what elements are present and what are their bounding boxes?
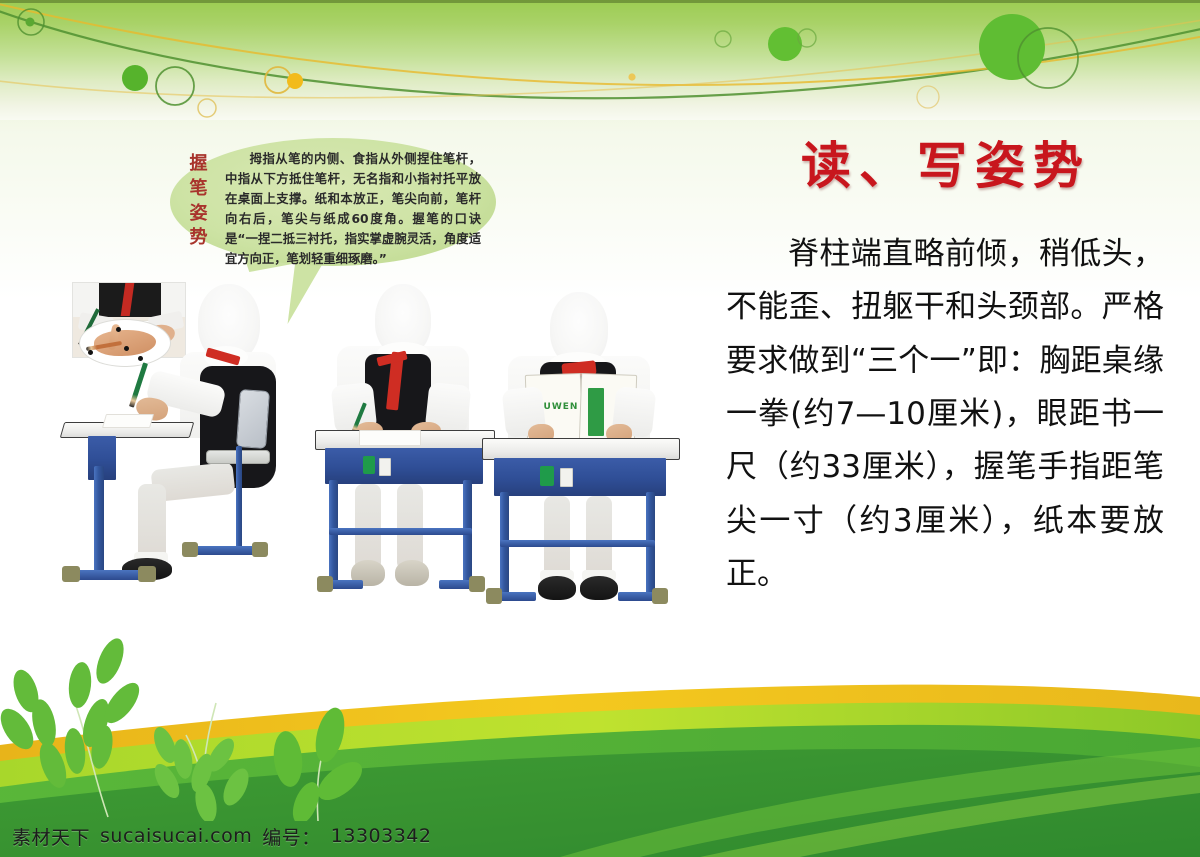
student1-chair-back (236, 389, 270, 449)
solid-circle-2 (122, 65, 148, 91)
leaf-cluster-mid (150, 724, 254, 821)
leaf-19 (311, 705, 350, 766)
main-paragraph: 脊柱端直略前倾，稍低头，不能歪、扭躯干和头颈部。严格要求做到“三个一”即：胸距桌… (700, 228, 1170, 601)
leaf-18 (271, 730, 305, 789)
student3-desk-white-tag (560, 468, 573, 487)
student1-chair-foot-r (252, 542, 268, 557)
student2-desk-body (325, 448, 483, 484)
watermark-id-value: 13303342 (331, 825, 432, 847)
watermark-site-url: sucaisucai.com (100, 825, 252, 847)
watermark-site-cn: 素材天下 (12, 823, 90, 850)
student2-leg-left (355, 484, 381, 570)
student3-desk-top (482, 438, 680, 460)
student3-desk-foot-r (652, 588, 668, 604)
student1-shin (138, 484, 166, 562)
callout-text: 拇指从笔的内侧、食指从外侧捏住笔杆，中指从下方抵住笔杆，无名指和小指衬托平放在桌… (225, 150, 481, 269)
student3-shoe-right (580, 576, 618, 600)
text-column: 读、写姿势 脊柱端直略前倾，稍低头，不能歪、扭躯干和头颈部。严格要求做到“三个一… (700, 126, 1170, 601)
grip-callout[interactable]: 握笔姿势 拇指从笔的内侧、食指从外侧捏住笔杆，中指从下方抵住笔杆，无名指和小指衬… (170, 138, 500, 338)
watermark-id-label: 编号： (262, 823, 321, 850)
student3-desk-foot-l (486, 588, 502, 604)
student2-shoe-right (395, 560, 429, 586)
student2-desk-foot-l (317, 576, 333, 592)
student3-book-green-band (588, 388, 604, 436)
student1-chair-base (188, 546, 262, 555)
outline-circle-3 (198, 99, 216, 117)
callout-label: 握笔姿势 (182, 152, 216, 251)
student1-paper (102, 414, 154, 428)
student1-desk-leg (94, 466, 104, 578)
student1-desk-foot-r (138, 566, 156, 582)
student3-desk-crossbar (500, 540, 655, 547)
student3-desk-body (494, 458, 666, 496)
student1-chair-leg (236, 446, 242, 550)
leaf-16 (218, 765, 254, 810)
solid-circle-3 (287, 73, 303, 89)
student1-chair-foot-l (182, 542, 198, 557)
student2-leg-right (397, 484, 423, 570)
solid-circle-5 (979, 14, 1045, 80)
poster-canvas: 握笔姿势 拇指从笔的内侧、食指从外侧捏住笔杆，中指从下方抵住笔杆，无名指和小指衬… (0, 0, 1200, 857)
student3-shoe-left (538, 576, 576, 600)
watermark-bar: 素材天下 sucaisucai.com 编号： 13303342 (0, 815, 1200, 857)
student-station-3[interactable]: YUWEN (482, 292, 702, 664)
outline-circle-8 (917, 86, 939, 108)
student2-desk-crossbar (329, 528, 472, 535)
student3-leg-right (586, 496, 612, 580)
student3-leg-left (544, 496, 570, 580)
solid-circle-4 (768, 27, 802, 61)
student2-desk-green-tag (363, 456, 375, 474)
leaf-5 (67, 661, 94, 709)
solid-circle-6 (628, 73, 635, 80)
student1-desk-foot-l (62, 566, 80, 582)
outline-circle-5 (715, 31, 731, 47)
student2-paper (359, 430, 421, 446)
solid-circle-1 (26, 18, 35, 27)
outline-circle-2 (156, 67, 194, 105)
page-title: 读、写姿势 (700, 126, 1170, 198)
student3-desk-green-tag (540, 466, 554, 486)
student2-desk-white-tag (379, 458, 391, 476)
student1-desk-base (68, 570, 148, 580)
